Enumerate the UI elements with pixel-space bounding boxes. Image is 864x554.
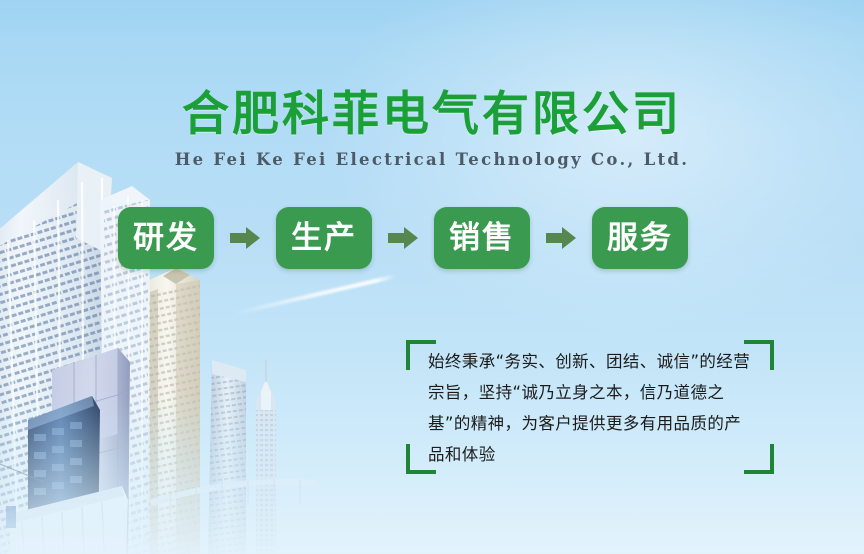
mission-statement-block: 始终秉承“务实、创新、团结、诚信”的经营宗旨，坚持“诚乃立身之本，信乃道德之基”… [406, 340, 774, 474]
process-step-rd[interactable]: 研发 [118, 207, 214, 269]
company-banner: 合肥科菲电气有限公司 He Fei Ke Fei Electrical Tech… [0, 0, 864, 554]
process-flow: 研发 生产 销售 服务 [118, 207, 688, 269]
mission-statement-text: 始终秉承“务实、创新、团结、诚信”的经营宗旨，坚持“诚乃立身之本，信乃道德之基”… [428, 346, 758, 470]
contrail-streak [232, 274, 397, 316]
arrow-right-icon [372, 227, 434, 249]
cityscape-image [0, 134, 420, 554]
arrow-right-icon [214, 227, 276, 249]
headline: 合肥科菲电气有限公司 He Fei Ke Fei Electrical Tech… [0, 90, 864, 169]
process-step-production[interactable]: 生产 [276, 207, 372, 269]
process-step-label: 销售 [449, 223, 515, 254]
process-step-sales[interactable]: 销售 [434, 207, 530, 269]
process-step-label: 研发 [133, 223, 199, 254]
company-name-chinese: 合肥科菲电气有限公司 [0, 90, 864, 140]
process-step-label: 生产 [291, 223, 357, 254]
arrow-right-icon [530, 227, 592, 249]
process-step-label: 服务 [607, 223, 673, 254]
process-step-service[interactable]: 服务 [592, 207, 688, 269]
company-name-english: He Fei Ke Fei Electrical Technology Co.,… [0, 150, 864, 169]
